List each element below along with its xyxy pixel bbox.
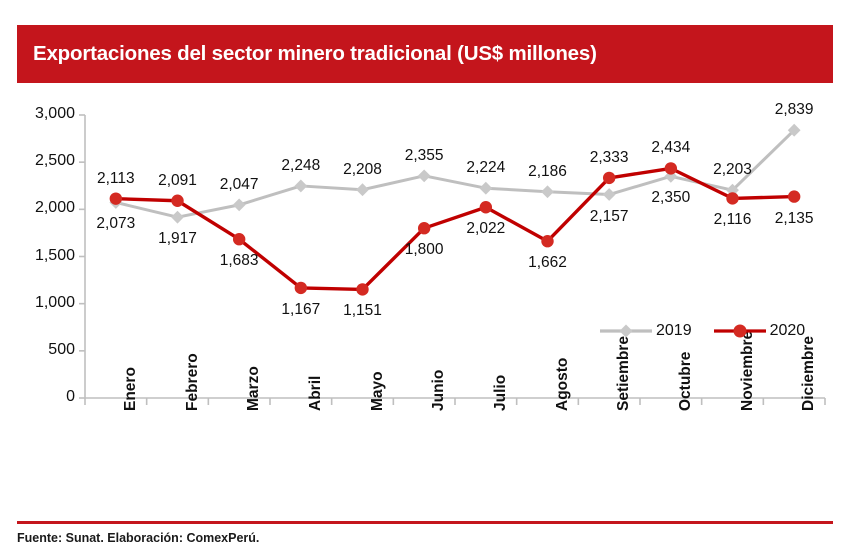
y-axis-tick-label: 2,000 [11,199,75,217]
footer-divider [17,521,833,524]
legend-item-2020[interactable]: 2020 [714,322,806,340]
x-axis-tick-label-diciembre: Diciembre [800,336,818,411]
x-axis-tick-label-julio: Julio [492,375,510,411]
legend-label-2020: 2020 [770,322,806,340]
y-axis-tick-label: 3,000 [11,105,75,123]
plot-area: 3,0002,5002,0001,5001,0005000 EneroFebre… [0,0,850,560]
legend: 2019 2020 [600,322,805,340]
y-axis-tick-label: 0 [11,388,75,406]
source-note: Fuente: Sunat. Elaboración: ComexPerú. [17,531,259,545]
plot-svg [0,0,850,560]
chart-figure: Exportaciones del sector minero tradicio… [0,0,850,560]
legend-label-2019: 2019 [656,322,692,340]
x-axis-tick-label-agosto: Agosto [554,358,572,411]
x-axis-tick-label-febrero: Febrero [184,353,202,411]
legend-swatch-2019-icon [600,322,652,340]
y-axis-tick-label: 1,500 [11,247,75,265]
x-axis-tick-label-mayo: Mayo [369,371,387,411]
y-axis-tick-label: 1,000 [11,294,75,312]
x-axis-tick-label-octubre: Octubre [677,352,695,411]
y-axis-tick-label: 2,500 [11,152,75,170]
x-axis-tick-label-marzo: Marzo [245,366,263,411]
x-axis-tick-label-noviembre: Noviembre [739,331,757,411]
x-axis-tick-label-setiembre: Setiembre [615,336,633,411]
legend-item-2019[interactable]: 2019 [600,322,692,340]
y-axis-tick-label: 500 [11,341,75,359]
x-axis-tick-label-abril: Abril [307,376,325,411]
x-axis-tick-label-enero: Enero [122,367,140,411]
x-axis-tick-label-junio: Junio [430,370,448,411]
legend-swatch-2020-icon [714,322,766,340]
